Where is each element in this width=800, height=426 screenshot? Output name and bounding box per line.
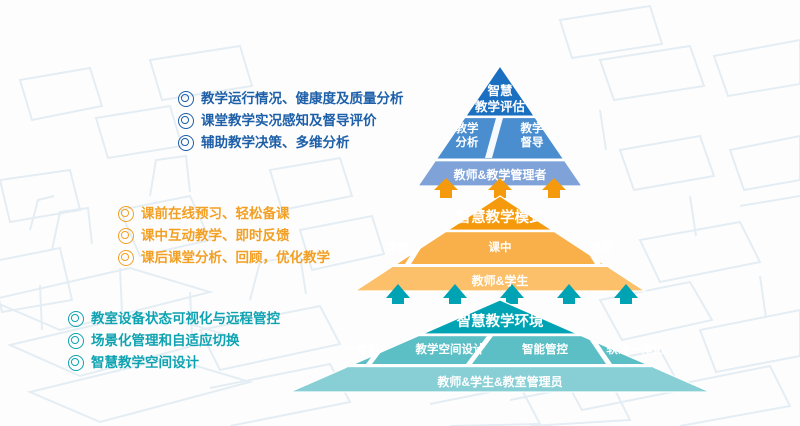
level-evaluation-group xyxy=(410,66,590,186)
level-mode-base-band xyxy=(340,268,660,292)
bullet-item: 辅助教学决策、多维分析 xyxy=(178,132,404,154)
ring-bullet-icon xyxy=(178,135,194,151)
bullets-environment: 教室设备状态可视化与远程管控 场景化管理和自适应切换 智慧教学空间设计 xyxy=(68,308,280,374)
ring-bullet-icon xyxy=(68,311,84,327)
bullet-text: 场景化管理和自适应切换 xyxy=(91,331,240,352)
bullet-text: 课前在线预习、轻松备课 xyxy=(141,204,290,225)
bullet-text: 智慧教学空间设计 xyxy=(91,353,199,374)
bullet-item: 教室设备状态可视化与远程管控 xyxy=(68,308,280,330)
ring-bullet-icon xyxy=(68,355,84,371)
bullets-evaluation: 教学运行情况、健康度及质量分析 课堂教学实况感知及督导评价 辅助教学决策、多维分… xyxy=(178,88,404,154)
ring-bullet-icon xyxy=(118,206,134,222)
bullet-text: 辅助教学决策、多维分析 xyxy=(201,133,350,154)
level-environment-group xyxy=(280,300,720,394)
bullet-item: 课前在线预习、轻松备课 xyxy=(118,203,330,225)
bullet-item: 智慧教学空间设计 xyxy=(68,352,280,374)
level-environment-segment-band xyxy=(280,336,720,364)
bullet-item: 课中互动教学、即时反馈 xyxy=(118,225,330,247)
level-mode-group xyxy=(340,196,660,292)
bullet-text: 课中互动教学、即时反馈 xyxy=(141,226,290,247)
bullets-mode: 课前在线预习、轻松备课 课中互动教学、即时反馈 课后课堂分析、回顾，优化教学 xyxy=(118,203,330,269)
bullet-item: 课堂教学实况感知及督导评价 xyxy=(178,110,404,132)
ring-bullet-icon xyxy=(118,228,134,244)
level-environment-base-band xyxy=(280,368,720,394)
bullet-text: 教学运行情况、健康度及质量分析 xyxy=(201,89,404,110)
ring-bullet-icon xyxy=(68,333,84,349)
ring-bullet-icon xyxy=(118,250,134,266)
bullet-text: 课后课堂分析、回顾，优化教学 xyxy=(141,248,330,269)
bullet-item: 课后课堂分析、回顾，优化教学 xyxy=(118,247,330,269)
ring-bullet-icon xyxy=(178,113,194,129)
bullet-text: 教室设备状态可视化与远程管控 xyxy=(91,309,280,330)
bullet-item: 教学运行情况、健康度及质量分析 xyxy=(178,88,404,110)
level-mode-segment-band xyxy=(340,232,660,264)
ring-bullet-icon xyxy=(178,91,194,107)
diagram-canvas: 智慧 教学评估 教学 分析 教学 督导 教师&教学管理者 智慧教学模式 课前 课… xyxy=(0,0,800,426)
bullet-text: 课堂教学实况感知及督导评价 xyxy=(201,111,377,132)
bullet-item: 场景化管理和自适应切换 xyxy=(68,330,280,352)
